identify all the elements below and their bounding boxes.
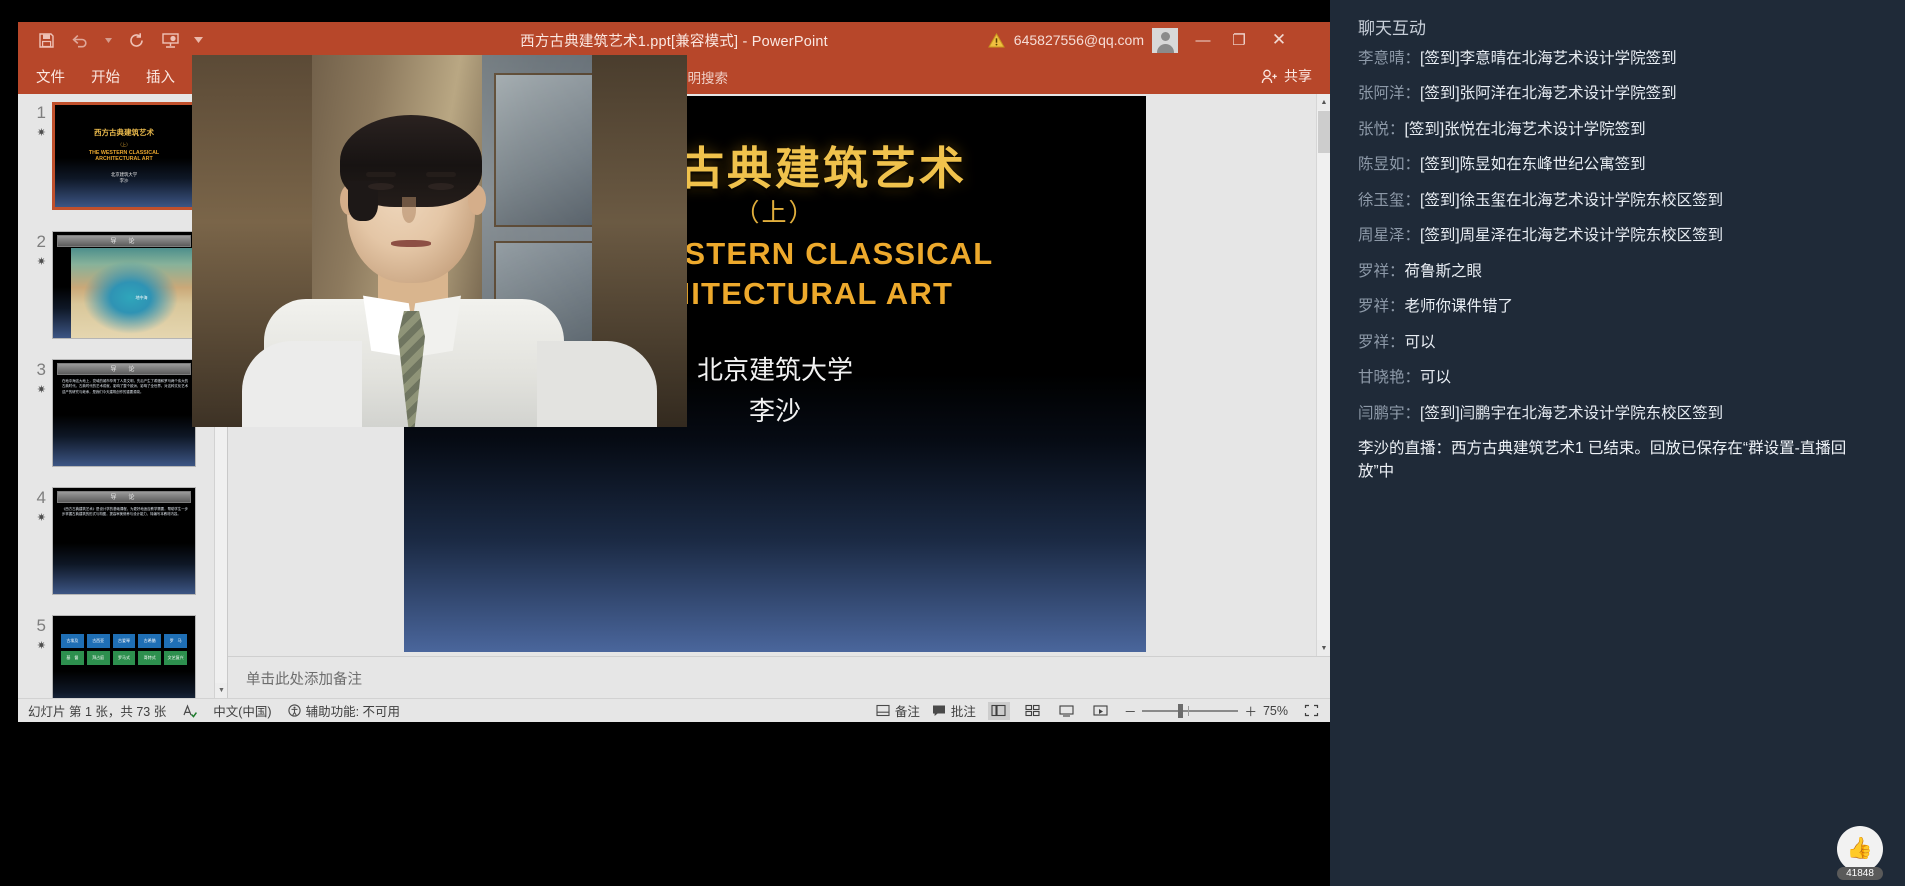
thumb-tile: 罗 马 (164, 634, 187, 648)
chat-message-text: [签到]张悦在北海艺术设计学院签到 (1405, 121, 1646, 138)
presenter-eye-right (428, 183, 454, 190)
presenter-camera-feed[interactable] (192, 55, 687, 427)
minimize-button[interactable]: — (1188, 22, 1218, 58)
presenter-eyebrow-right (426, 172, 456, 177)
chat-sender-name: 张阿洋： (1358, 85, 1420, 102)
chat-sender-name: 陈昱如： (1358, 156, 1420, 173)
zoom-track[interactable] (1142, 710, 1238, 712)
account-email: 645827556@qq.com (1014, 32, 1144, 48)
thumbnail-slide-5[interactable]: 5 ✷ 古埃及古西亚古爱琴古希腊罗 马基 督拜占庭罗马式哥特式文艺复兴 (18, 615, 228, 698)
accessibility-icon (288, 704, 301, 717)
chat-sender-name: 张悦： (1358, 121, 1405, 138)
thumb-body-text: 《西方古典建筑艺术》是设计学的基础课程，为更好地适应教学需要，帮助学生一步步掌握… (62, 507, 188, 518)
slide-star-icon: ✷ (18, 128, 46, 139)
reading-view-button[interactable] (1056, 702, 1078, 720)
status-bar: 幻灯片 第 1 张，共 73 张 中文(中国) 辅助功能: 不可用 备注 批注 (18, 698, 1330, 722)
presenter-eye-left (368, 183, 394, 190)
start-slideshow-icon[interactable] (160, 30, 180, 50)
tab-file[interactable]: 文件 (36, 66, 65, 87)
chat-message-text: 荷鲁斯之眼 (1405, 263, 1483, 280)
slide-scrollbar[interactable]: ▲ ▼ (1316, 94, 1330, 656)
customize-qat-icon[interactable] (194, 30, 203, 50)
slide-indicator[interactable]: 幻灯片 第 1 张，共 73 张 (28, 701, 166, 720)
slideshow-icon (1093, 704, 1108, 717)
thumb-english: THE WESTERN CLASSICAL ARCHITECTURAL ART (55, 150, 193, 163)
slide-star-icon: ✷ (18, 513, 46, 524)
chat-message-text: 老师你课件错了 (1405, 298, 1514, 315)
normal-view-icon (991, 704, 1006, 717)
thumb-tile: 古爱琴 (113, 634, 136, 648)
like-count: 41848 (1837, 867, 1883, 880)
undo-dropdown-icon[interactable] (104, 30, 112, 50)
chat-sender-name: 罗祥： (1358, 263, 1405, 280)
chat-message-text: [签到]张阿洋在北海艺术设计学院签到 (1420, 85, 1677, 102)
chat-message-list[interactable]: 李意晴：[签到]李意晴在北海艺术设计学院签到张阿洋：[签到]张阿洋在北海艺术设计… (1358, 48, 1875, 483)
presenter-hair (340, 115, 482, 207)
avatar[interactable] (1152, 28, 1178, 53)
restore-button[interactable]: ❐ (1224, 22, 1254, 58)
chat-sender-name: 徐玉玺： (1358, 192, 1420, 209)
presenter-shoulder-right (537, 341, 657, 427)
thumb-tile: 文艺复兴 (164, 651, 187, 665)
notes-placeholder[interactable]: 单击此处添加备注 (246, 668, 362, 689)
chat-message: 张阿洋：[签到]张阿洋在北海艺术设计学院签到 (1358, 83, 1875, 105)
chat-sender-name: 闫鹏宇： (1358, 405, 1420, 422)
thumbnail-number: 2 ✷ (18, 231, 52, 339)
thumb-tile: 哥特式 (138, 651, 161, 665)
presenter-eyebrow-left (366, 172, 396, 177)
thumbnail-number: 1 ✷ (18, 102, 52, 210)
slide-star-icon: ✷ (18, 385, 46, 396)
warning-icon (988, 33, 1005, 48)
zoom-slider[interactable]: － ＋ 75% (1124, 701, 1288, 720)
zoom-knob[interactable] (1178, 704, 1183, 718)
chat-message-text: 可以 (1420, 369, 1451, 386)
presenter-nose (402, 197, 416, 223)
thumbnail-number: 3 ✷ (18, 359, 52, 467)
thumb-header: 导 论 (57, 363, 191, 375)
chat-message: 李沙的直播：西方古典建筑艺术1 已结束。回放已保存在“群设置-直播回放”中 (1358, 438, 1875, 483)
slide-star-icon: ✷ (18, 257, 46, 268)
thumb-tiles: 古埃及古西亚古爱琴古希腊罗 马基 督拜占庭罗马式哥特式文艺复兴 (61, 634, 187, 665)
collapse-ribbon-icon[interactable] (1290, 58, 1312, 94)
chat-message: 陈昱如：[签到]陈昱如在东峰世纪公寓签到 (1358, 154, 1875, 176)
spellcheck-icon[interactable] (182, 704, 197, 718)
normal-view-button[interactable] (988, 702, 1010, 720)
scroll-up-icon[interactable]: ▲ (1317, 94, 1330, 110)
redo-icon[interactable] (126, 30, 146, 50)
title-bar: 西方古典建筑艺术1.ppt[兼容模式] - PowerPoint 6458275… (18, 22, 1330, 58)
reading-view-icon (1059, 704, 1074, 717)
thumb-header: 导 论 (57, 235, 191, 247)
thumbnail-number: 4 ✷ (18, 487, 52, 595)
chat-message: 甘晓艳：可以 (1358, 367, 1875, 389)
thumbnail-frame[interactable]: 导 论 在地中海这大地上，党域的城市孕育了人类文明，先后产生了希腊和罗马两个伟大… (52, 359, 196, 467)
chat-sender-name: 罗祥： (1358, 298, 1405, 315)
chat-panel-title: 聊天互动 (1358, 14, 1875, 39)
thumb-tile: 基 督 (61, 651, 84, 665)
chat-message-text: 李沙的直播：西方古典建筑艺术1 已结束。回放已保存在“群设置-直播回放”中 (1358, 440, 1846, 479)
thumbnail-frame[interactable]: 古埃及古西亚古爱琴古希腊罗 马基 督拜占庭罗马式哥特式文艺复兴 (52, 615, 196, 698)
chat-message-text: 可以 (1405, 334, 1436, 351)
thumb-body-text: 在地中海这大地上，党域的城市孕育了人类文明，先后产生了希腊和罗马两个伟大的古典时… (62, 379, 188, 395)
chat-panel: 聊天互动 李意晴：[签到]李意晴在北海艺术设计学院签到张阿洋：[签到]张阿洋在北… (1330, 0, 1905, 886)
scroll-down-icon[interactable]: ▼ (1317, 640, 1330, 656)
account-area[interactable]: 645827556@qq.com (988, 22, 1144, 58)
zoom-out-button[interactable]: － (1124, 701, 1137, 720)
thumb-subtitle: （上） (55, 142, 193, 148)
zoom-in-button[interactable]: ＋ (1244, 701, 1257, 720)
chat-message: 罗祥：老师你课件错了 (1358, 296, 1875, 318)
chat-message: 李意晴：[签到]李意晴在北海艺术设计学院签到 (1358, 48, 1875, 70)
undo-icon[interactable] (70, 30, 90, 50)
chat-message: 罗祥：荷鲁斯之眼 (1358, 261, 1875, 283)
thumb-title: 西方古典建筑艺术 (55, 129, 193, 138)
chat-message-text: [签到]陈昱如在东峰世纪公寓签到 (1420, 156, 1646, 173)
chat-message-text: [签到]闫鹏宇在北海艺术设计学院东校区签到 (1420, 405, 1723, 422)
zoom-percentage[interactable]: 75% (1263, 704, 1288, 718)
thumb-tile: 罗马式 (113, 651, 136, 665)
fit-slide-button[interactable] (1300, 702, 1322, 720)
quick-access-toolbar (18, 30, 203, 50)
slideshow-view-button[interactable] (1090, 702, 1112, 720)
like-button[interactable]: 👍 (1837, 826, 1883, 872)
powerpoint-window: 西方古典建筑艺术1.ppt[兼容模式] - PowerPoint 6458275… (0, 0, 1330, 886)
chat-message: 罗祥：可以 (1358, 332, 1875, 354)
presenter-mouth (391, 240, 431, 247)
comments-button[interactable]: 批注 (932, 701, 976, 720)
thumbnail-frame[interactable]: 导 论 《西方古典建筑艺术》是设计学的基础课程，为更好地适应教学需要，帮助学生一… (52, 487, 196, 595)
fit-to-window-icon (1304, 704, 1319, 717)
thumbnail-number: 5 ✷ (18, 615, 52, 698)
notes-icon (876, 704, 890, 717)
chat-message-text: [签到]周星泽在北海艺术设计学院东校区签到 (1420, 227, 1723, 244)
thumb-tile: 古埃及 (61, 634, 84, 648)
chat-sender-name: 周星泽： (1358, 227, 1420, 244)
slide-sorter-view-button[interactable] (1022, 702, 1044, 720)
slide-star-icon: ✷ (18, 641, 46, 652)
save-icon[interactable] (36, 30, 56, 50)
chat-message: 周星泽：[签到]周星泽在北海艺术设计学院东校区签到 (1358, 225, 1875, 247)
notes-toggle-button[interactable]: 备注 (876, 701, 920, 720)
language-indicator[interactable]: 中文(中国) (213, 701, 271, 720)
thumb-org: 北京建筑大学李沙 (55, 172, 193, 184)
thumb-tile: 古西亚 (87, 634, 110, 648)
accessibility-indicator[interactable]: 辅助功能: 不可用 (288, 701, 400, 720)
comment-icon (932, 704, 946, 717)
tab-home[interactable]: 开始 (91, 66, 120, 87)
thumbnail-frame[interactable]: 西方古典建筑艺术 （上） THE WESTERN CLASSICAL ARCHI… (52, 102, 196, 210)
chat-sender-name: 李意晴： (1358, 50, 1420, 67)
scroll-down-icon[interactable]: ▼ (215, 683, 228, 698)
screen-root: 西方古典建筑艺术1.ppt[兼容模式] - PowerPoint 6458275… (0, 0, 1905, 886)
scrollbar-thumb[interactable] (1318, 111, 1330, 153)
slide-sorter-icon (1025, 704, 1040, 717)
notes-pane[interactable]: 单击此处添加备注 (228, 656, 1330, 698)
chat-message: 闫鹏宇：[签到]闫鹏宇在北海艺术设计学院东校区签到 (1358, 403, 1875, 425)
thumb-tile: 拜占庭 (87, 651, 110, 665)
presenter-shoulder-left (242, 341, 362, 427)
share-person-icon (1261, 69, 1278, 84)
chat-message-text: [签到]李意晴在北海艺术设计学院签到 (1420, 50, 1677, 67)
close-button[interactable]: ✕ (1264, 22, 1294, 58)
tab-insert[interactable]: 插入 (146, 66, 175, 87)
chat-message: 张悦：[签到]张悦在北海艺术设计学院签到 (1358, 119, 1875, 141)
chat-sender-name: 罗祥： (1358, 334, 1405, 351)
status-left-group: 幻灯片 第 1 张，共 73 张 中文(中国) 辅助功能: 不可用 (18, 701, 400, 720)
thumb-map-image: 地中海 (71, 248, 195, 338)
thumbnail-slide-4[interactable]: 4 ✷ 导 论 《西方古典建筑艺术》是设计学的基础课程，为更好地适应教学需要，帮… (18, 487, 228, 595)
status-right-group: 备注 批注 － (876, 701, 1322, 720)
thumbs-up-icon: 👍 (1847, 837, 1873, 861)
thumb-tile: 古希腊 (138, 634, 161, 648)
thumb-header: 导 论 (57, 491, 191, 503)
thumbnail-frame[interactable]: 地中海 导 论 (52, 231, 196, 339)
thumb-sea-label: 地中海 (135, 295, 147, 301)
zoom-midpoint-tick (1188, 706, 1189, 716)
chat-message-text: [签到]徐玉玺在北海艺术设计学院东校区签到 (1420, 192, 1723, 209)
chat-message: 徐玉玺：[签到]徐玉玺在北海艺术设计学院东校区签到 (1358, 190, 1875, 212)
chat-sender-name: 甘晓艳： (1358, 369, 1420, 386)
